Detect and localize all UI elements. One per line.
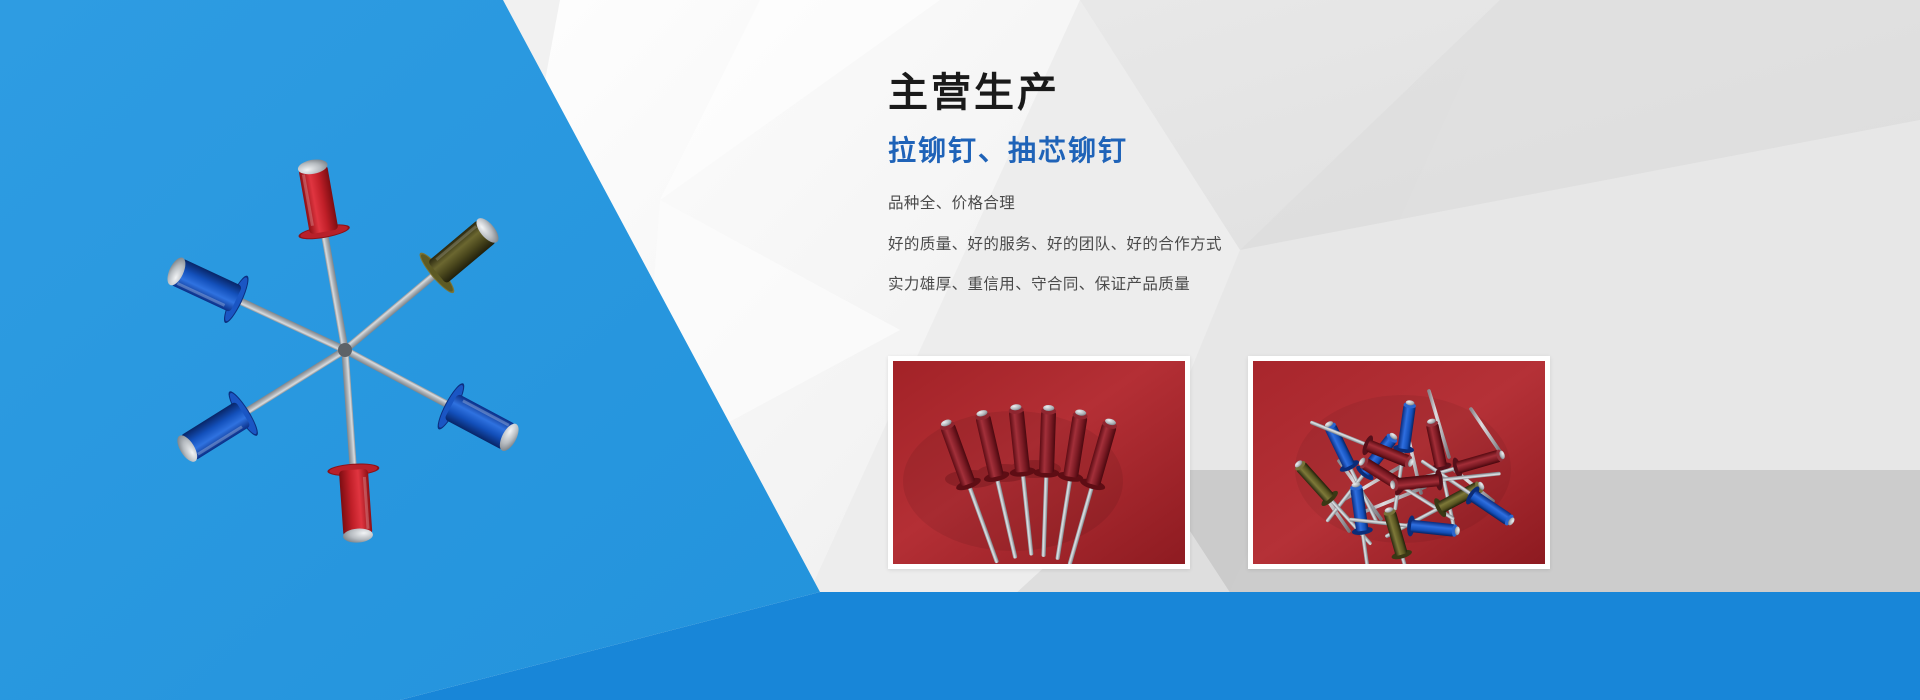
product-photo-mixed-rivets[interactable] [1248, 356, 1550, 569]
promo-banner: 主营生产 拉铆钉、抽芯铆钉 品种全、价格合理 好的质量、好的服务、好的团队、好的… [0, 0, 1920, 700]
photo-frame [1253, 361, 1545, 564]
product-photo-red-rivets[interactable] [888, 356, 1190, 569]
banner-text-block: 主营生产 拉铆钉、抽芯铆钉 品种全、价格合理 好的质量、好的服务、好的团队、好的… [888, 70, 1648, 296]
description-line: 品种全、价格合理 [888, 194, 1648, 215]
page-title: 主营生产 [888, 70, 1648, 116]
description-list: 品种全、价格合理 好的质量、好的服务、好的团队、好的合作方式 实力雄厚、重信用、… [888, 194, 1648, 297]
product-photo-gallery [888, 356, 1550, 569]
page-subtitle: 拉铆钉、抽芯铆钉 [888, 134, 1648, 168]
description-line: 好的质量、好的服务、好的团队、好的合作方式 [888, 235, 1648, 256]
description-line: 实力雄厚、重信用、守合同、保证产品质量 [888, 275, 1648, 296]
photo-frame [893, 361, 1185, 564]
